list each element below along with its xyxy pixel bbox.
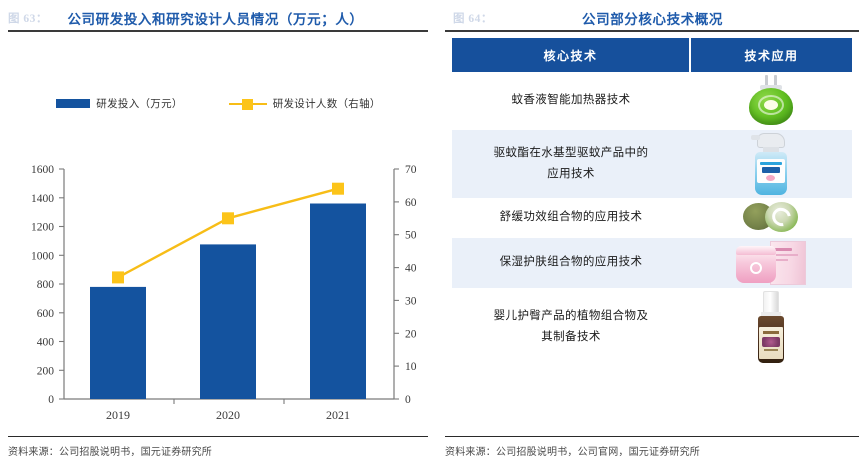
right-tick-60: 60 [405, 197, 417, 209]
right-tick-50: 50 [405, 230, 417, 242]
cell-application-3 [690, 198, 852, 238]
right-tick-10: 10 [405, 361, 417, 373]
marker-2019 [112, 271, 124, 283]
left-source-note: 资料来源：公司招股说明书，国元证券研究所 [8, 443, 212, 458]
table-header: 核心技术 技术应用 [452, 38, 852, 72]
left-tick-1000: 1000 [31, 250, 54, 262]
category-label-2020: 2020 [216, 408, 240, 422]
left-figure-number: 图 63： [8, 10, 48, 26]
moisturizing-cream-jar-product-icon [734, 241, 808, 285]
legend-bar-swatch-icon [56, 99, 90, 108]
left-figure-caption: 图 63： 公司研发投入和研究设计人员情况（万元；人） [0, 6, 431, 30]
left-tick-400: 400 [37, 337, 55, 349]
cell-technology-5: 婴儿护臀产品的植物组合物及 其制备技术 [452, 288, 690, 366]
chart-plot-area: 0 200 400 600 800 1000 1200 1400 1600 [0, 133, 437, 423]
cell-technology-2-line2: 应用技术 [547, 168, 595, 180]
cell-application-1 [690, 72, 852, 130]
right-tick-40: 40 [405, 263, 417, 275]
left-tick-1400: 1400 [31, 193, 54, 205]
left-tick-1600: 1600 [31, 164, 54, 176]
cell-technology-2-line1: 驱蚊酯在水基型驱蚊产品中的 [494, 147, 649, 159]
cell-application-4 [690, 238, 852, 288]
category-label-2021: 2021 [326, 408, 350, 422]
right-figure-number: 图 64： [453, 10, 493, 26]
table-body: 蚊香液智能加热器技术 驱蚊酯在水基型驱蚊产品中的 应用技术 [452, 72, 852, 366]
table-header-row: 核心技术 技术应用 [452, 38, 852, 72]
left-figure-title: 公司研发投入和研究设计人员情况（万元；人） [67, 8, 363, 28]
chart-category-labels: 2019 2020 2021 [106, 408, 350, 422]
mosquito-liquid-heater-product-icon [745, 75, 797, 127]
cell-application-5 [690, 288, 852, 366]
cell-technology-5-line2: 其制备技术 [541, 331, 601, 343]
screenshot-page: 图 63： 公司研发投入和研究设计人员情况（万元；人） 研发投入（万元） 研发设… [0, 0, 866, 468]
left-tick-600: 600 [37, 308, 55, 320]
right-tick-30: 30 [405, 295, 417, 307]
chart-bars [90, 204, 366, 400]
cell-technology-2: 驱蚊酯在水基型驱蚊产品中的 应用技术 [452, 130, 690, 198]
legend-label-rd-headcount: 研发设计人数（右轴） [273, 96, 381, 111]
left-tick-200: 200 [37, 365, 55, 377]
left-footer-divider [8, 436, 428, 437]
header-technology-application: 技术应用 [690, 38, 852, 72]
right-footer-divider [445, 436, 859, 437]
table-row: 舒缓功效组合物的应用技术 [452, 198, 852, 238]
table-row: 保湿护肤组合物的应用技术 [452, 238, 852, 288]
right-tick-0: 0 [405, 394, 411, 406]
chart-x-axis-ticks [174, 399, 284, 404]
header-core-technology: 核心技术 [452, 38, 690, 72]
cell-technology-1: 蚊香液智能加热器技术 [452, 72, 690, 130]
left-panel-chart: 图 63： 公司研发投入和研究设计人员情况（万元；人） 研发投入（万元） 研发设… [0, 0, 437, 468]
table-row: 驱蚊酯在水基型驱蚊产品中的 应用技术 [452, 130, 852, 198]
rd-investment-chart: 研发投入（万元） 研发设计人数（右轴） [0, 38, 437, 430]
bar-2020 [200, 244, 256, 399]
bar-2021 [310, 204, 366, 400]
table-row: 蚊香液智能加热器技术 [452, 72, 852, 130]
chart-legend: 研发投入（万元） 研发设计人数（右轴） [0, 96, 437, 111]
core-technology-table: 核心技术 技术应用 蚊香液智能加热器技术 驱蚊酯在水基型驱蚊产品中的 应用技术 [452, 38, 852, 366]
cell-technology-3: 舒缓功效组合物的应用技术 [452, 198, 690, 238]
legend-line-swatch-icon [229, 99, 267, 109]
chart-left-axis-labels: 0 200 400 600 800 1000 1200 1400 1600 [31, 164, 54, 406]
category-label-2019: 2019 [106, 408, 130, 422]
marker-2021 [332, 183, 344, 195]
right-tick-20: 20 [405, 328, 417, 340]
chart-svg: 0 200 400 600 800 1000 1200 1400 1600 [0, 133, 437, 423]
baby-diaper-care-spray-product-icon [754, 291, 788, 363]
cell-technology-4: 保湿护肤组合物的应用技术 [452, 238, 690, 288]
chart-right-axis-ticks [394, 169, 399, 399]
soothing-balm-jar-product-icon [743, 201, 799, 235]
marker-2020 [222, 212, 234, 224]
legend-label-rd-investment: 研发投入（万元） [96, 96, 182, 111]
chart-left-axis-ticks [59, 169, 64, 399]
mosquito-repellent-spray-product-icon [750, 133, 792, 195]
left-tick-800: 800 [37, 279, 55, 291]
table-row: 婴儿护臀产品的植物组合物及 其制备技术 [452, 288, 852, 366]
bar-2019 [90, 287, 146, 399]
left-tick-0: 0 [48, 394, 54, 406]
cell-technology-5-line1: 婴儿护臀产品的植物组合物及 [494, 310, 649, 322]
right-tick-70: 70 [405, 164, 417, 176]
right-figure-title: 公司部分核心技术概况 [582, 8, 723, 28]
legend-entry-rd-investment: 研发投入（万元） [56, 96, 182, 111]
legend-entry-rd-headcount: 研发设计人数（右轴） [229, 96, 381, 111]
right-source-note: 资料来源：公司招股说明书，公司官网，国元证券研究所 [445, 443, 700, 458]
left-tick-1200: 1200 [31, 222, 54, 234]
right-figure-caption: 图 64： 公司部分核心技术概况 [445, 6, 860, 30]
right-caption-divider [445, 30, 859, 32]
cell-application-2 [690, 130, 852, 198]
left-caption-divider [8, 30, 428, 32]
chart-right-axis-labels: 0 10 20 30 40 50 60 70 [405, 164, 417, 406]
